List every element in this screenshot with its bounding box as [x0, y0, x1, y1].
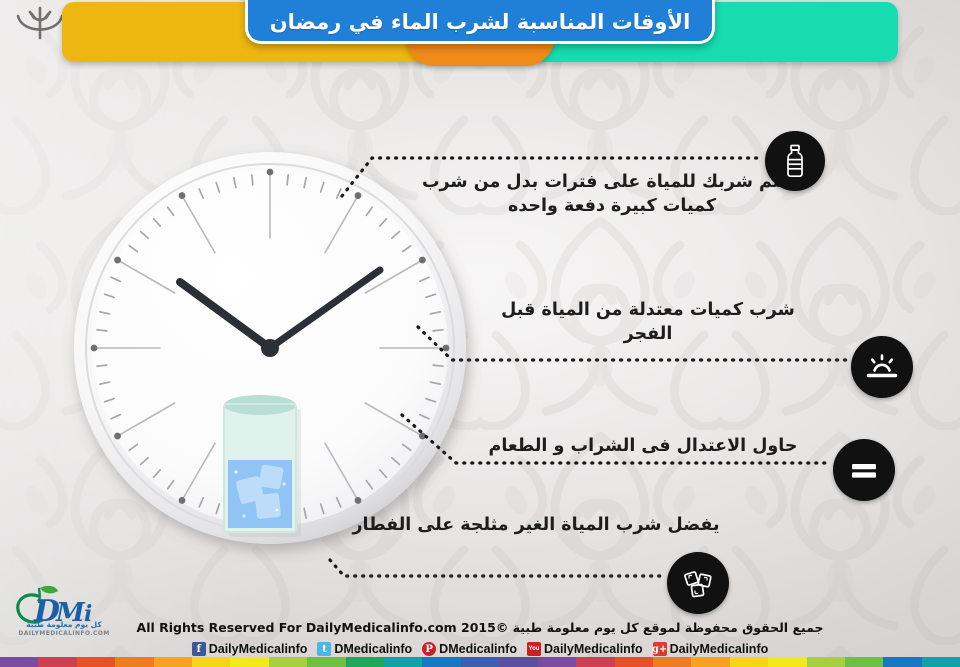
stripe-segment	[346, 657, 384, 667]
facebook-icon: f	[192, 642, 206, 656]
social-handle: DailyMedicalinfo	[544, 642, 643, 656]
stripe-segment	[691, 657, 729, 667]
callout-text-before-dawn: شرب كميات معتدلة من المياة قبل الفجر	[476, 298, 820, 346]
stripe-segment	[807, 657, 845, 667]
stripe-segment	[384, 657, 422, 667]
stripe-segment	[922, 657, 960, 667]
sunrise-icon	[851, 336, 913, 398]
water-bottle-icon	[765, 131, 825, 191]
social-handle: DMedicalinfo	[439, 642, 517, 656]
stripe-segment	[768, 657, 806, 667]
banner-band-blue: الأوقات المناسبة لشرب الماء في رمضان	[245, 0, 715, 44]
stripe-segment	[38, 657, 76, 667]
youtube-icon: You	[527, 642, 541, 656]
header-banner: الأوقات المناسبة لشرب الماء في رمضان	[0, 0, 960, 78]
callout-text-not-iced: يفضل شرب المياة الغير مثلجة على الفطار	[330, 513, 742, 537]
stripe-segment	[422, 657, 460, 667]
stripe-segment	[269, 657, 307, 667]
social-link-googleplus[interactable]: g+DailyMedicalinfo	[653, 642, 769, 656]
stripe-segment	[115, 657, 153, 667]
stripe-segment	[230, 657, 268, 667]
stripe-segment	[499, 657, 537, 667]
equals-balance-icon	[833, 439, 895, 501]
stripe-segment	[307, 657, 345, 667]
stripe-segment	[576, 657, 614, 667]
social-link-pinterest[interactable]: PDMedicalinfo	[422, 642, 517, 656]
infographic-canvas: الأوقات المناسبة لشرب الماء في رمضان	[0, 0, 960, 667]
twitter-icon: t	[317, 642, 331, 656]
social-handle: DMedicalinfo	[334, 642, 412, 656]
stripe-segment	[538, 657, 576, 667]
rainbow-stripe	[0, 657, 960, 667]
callout-text-moderation: حاول الاعتدال فى الشراب و الطعام	[462, 434, 824, 458]
stripe-segment	[192, 657, 230, 667]
ice-cubes-icon	[667, 552, 729, 614]
callout-text-split-intake: قسم شربك للمياة على فترات بدل من شرب كمي…	[404, 170, 820, 218]
social-link-facebook[interactable]: fDailyMedicalinfo	[192, 642, 308, 656]
stripe-segment	[730, 657, 768, 667]
social-links-bar: fDailyMedicalinfotDMedicalinfoPDMedicali…	[0, 639, 960, 659]
stripe-segment	[653, 657, 691, 667]
googleplus-icon: g+	[653, 642, 667, 656]
stripe-segment	[615, 657, 653, 667]
social-link-youtube[interactable]: YouDailyMedicalinfo	[527, 642, 643, 656]
stripe-segment	[77, 657, 115, 667]
page-title: الأوقات المناسبة لشرب الماء في رمضان	[270, 10, 691, 34]
social-handle: DailyMedicalinfo	[670, 642, 769, 656]
stripe-segment	[154, 657, 192, 667]
stripe-segment	[883, 657, 921, 667]
pinterest-icon: P	[422, 642, 436, 656]
social-handle: DailyMedicalinfo	[209, 642, 308, 656]
stripe-segment	[0, 657, 38, 667]
stripe-segment	[845, 657, 883, 667]
stripe-segment	[461, 657, 499, 667]
social-link-twitter[interactable]: tDMedicalinfo	[317, 642, 412, 656]
copyright-text: جميع الحقوق محفوظة لموقع كل يوم معلومة ط…	[0, 620, 960, 635]
